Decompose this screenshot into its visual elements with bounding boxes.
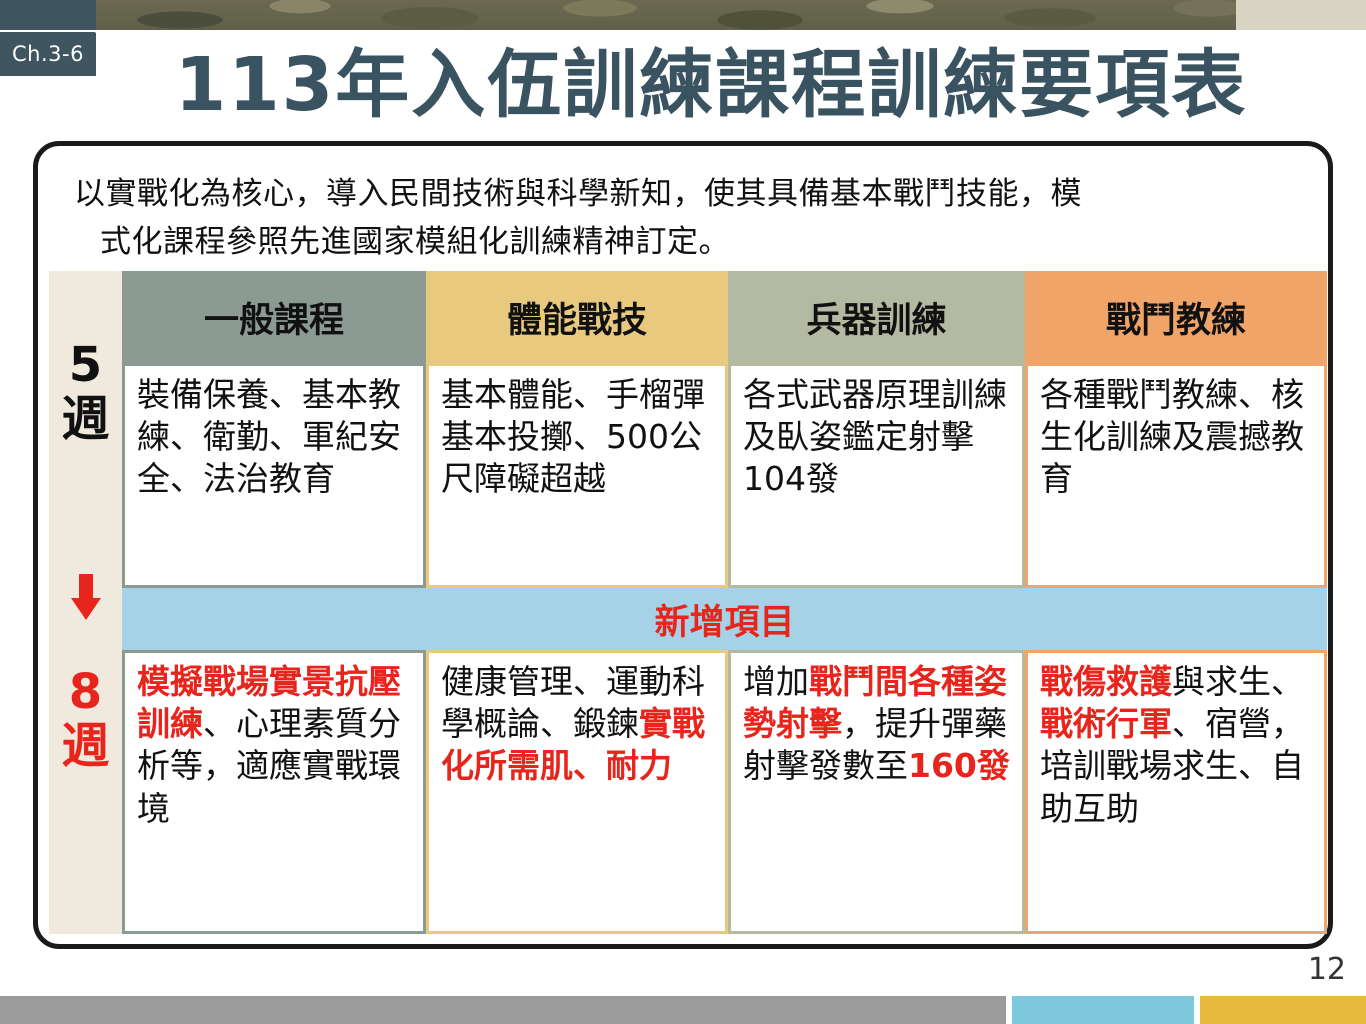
duration-5-unit: 週 bbox=[49, 393, 122, 447]
cell-5week-general: 裝備保養、基本教練、衛勤、軍紀安全、法治教育 bbox=[122, 363, 426, 588]
intro-paragraph: 以實戰化為核心，導入民間技術與科學新知，使其具備基本戰鬥技能，模 式化課程參照先… bbox=[74, 170, 1304, 266]
body-text: 與求生、 bbox=[1172, 662, 1304, 701]
cell-8week-weapons: 增加戰鬥間各種姿勢射擊，提升彈藥射擊發數至160發 bbox=[728, 650, 1025, 934]
bottom-bar-gray bbox=[0, 996, 1006, 1024]
cell-5week-combat: 各種戰鬥教練、核生化訓練及震撼教育 bbox=[1025, 363, 1327, 588]
training-table: 5 週 8 週 一般課程 體能戰技 兵器訓練 戰鬥教練 裝備保養、基本 bbox=[49, 271, 1327, 934]
highlighted-text: 戰術行軍 bbox=[1040, 704, 1172, 743]
bottom-bar-blue bbox=[1012, 996, 1194, 1024]
bottom-bar-yellow bbox=[1200, 996, 1366, 1024]
cell-5week-weapons: 各式武器原理訓練及臥姿鑑定射擊104發 bbox=[728, 363, 1025, 588]
table-grid: 一般課程 體能戰技 兵器訓練 戰鬥教練 裝備保養、基本教練、衛勤、軍紀安全、法治… bbox=[122, 271, 1327, 934]
content-card: 以實戰化為核心，導入民間技術與科學新知，使其具備基本戰鬥技能，模 式化課程參照先… bbox=[33, 141, 1333, 949]
intro-line-2: 式化課程參照先進國家模組化訓練精神訂定。 bbox=[74, 218, 1304, 266]
table-header-row: 一般課程 體能戰技 兵器訓練 戰鬥教練 bbox=[122, 271, 1327, 363]
arrow-head bbox=[71, 598, 101, 620]
cell-8week-combat: 戰傷救護與求生、戰術行軍、宿營，培訓戰場求生、自助互助 bbox=[1025, 650, 1327, 934]
column-header-combat: 戰鬥教練 bbox=[1025, 271, 1327, 363]
table-row-8-weeks: 模擬戰場實景抗壓訓練、心理素質分析等，適應實戰環境 健康管理、運動科學概論、鍛鍊… bbox=[122, 650, 1327, 934]
duration-8-number: 8 bbox=[49, 666, 122, 720]
highlighted-text: 160發 bbox=[908, 746, 1010, 785]
bottom-bars bbox=[0, 996, 1366, 1024]
duration-8-weeks: 8 週 bbox=[49, 666, 122, 774]
duration-column: 5 週 8 週 bbox=[49, 271, 122, 934]
cell-5week-fitness: 基本體能、手榴彈基本投擲、500公尺障礙超越 bbox=[426, 363, 728, 588]
column-header-fitness: 體能戰技 bbox=[426, 271, 728, 363]
cell-8week-fitness: 健康管理、運動科學概論、鍛鍊實戰化所需肌、耐力 bbox=[426, 650, 728, 934]
duration-8-unit: 週 bbox=[49, 720, 122, 774]
duration-5-number: 5 bbox=[49, 339, 122, 393]
top-banner-right-block bbox=[1236, 0, 1366, 30]
body-text: 增加 bbox=[743, 662, 809, 701]
new-items-divider: 新增項目 bbox=[122, 588, 1327, 650]
top-banner-left-block bbox=[0, 0, 96, 30]
page-title: 113年入伍訓練課程訓練要項表 bbox=[96, 28, 1326, 128]
arrow-stem bbox=[79, 574, 93, 600]
column-header-weapons: 兵器訓練 bbox=[728, 271, 1025, 363]
chapter-tag: Ch.3-6 bbox=[0, 32, 96, 76]
column-header-general: 一般課程 bbox=[122, 271, 426, 363]
duration-5-weeks: 5 週 bbox=[49, 339, 122, 447]
page-number: 12 bbox=[1308, 952, 1346, 987]
table-row-5-weeks: 裝備保養、基本教練、衛勤、軍紀安全、法治教育 基本體能、手榴彈基本投擲、500公… bbox=[122, 363, 1327, 588]
intro-line-1: 以實戰化為核心，導入民間技術與科學新知，使其具備基本戰鬥技能，模 bbox=[74, 176, 1082, 212]
highlighted-text: 戰傷救護 bbox=[1040, 662, 1172, 701]
cell-8week-general: 模擬戰場實景抗壓訓練、心理素質分析等，適應實戰環境 bbox=[122, 650, 426, 934]
